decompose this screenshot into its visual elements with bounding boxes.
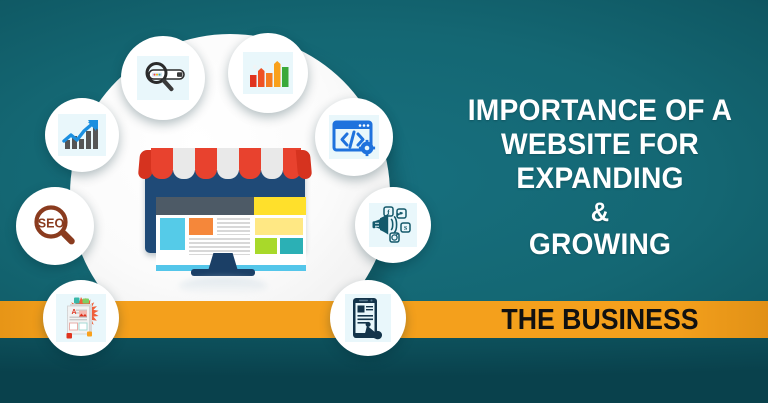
screen-yellow-block xyxy=(254,197,306,215)
bar-chart-icon[interactable] xyxy=(228,33,308,113)
headline-block: IMPORTANCE OF A WEBSITE FOR EXPANDING & … xyxy=(432,94,768,262)
screen-header-block xyxy=(156,197,254,215)
mobile-tap-icon-glyph xyxy=(346,295,390,341)
screen-green-block xyxy=(255,238,277,254)
awning-stripe xyxy=(239,148,261,179)
content-icon-glyph: A xyxy=(57,295,105,341)
screen-light-yellow-block xyxy=(255,218,303,235)
screen-cyan-block xyxy=(160,218,185,250)
growth-chart-icon-tile xyxy=(58,114,106,156)
screen-teal-block xyxy=(280,238,303,254)
headline-ampersand: & xyxy=(442,196,758,228)
content-icon[interactable]: A xyxy=(43,280,119,356)
mobile-tap-icon-tile xyxy=(345,294,391,342)
banner-image: SEO f s xyxy=(0,0,768,403)
screen-orange-block xyxy=(189,218,213,235)
screen-text-lines-2 xyxy=(189,238,250,255)
search-icon-tile xyxy=(137,56,189,100)
social-media-icon-glyph: f s xyxy=(370,204,416,246)
bar-chart-icon-glyph xyxy=(244,53,292,93)
headline-line-5: GROWING xyxy=(442,228,758,262)
growth-chart-icon[interactable] xyxy=(45,98,119,172)
awning-stripe xyxy=(195,148,217,179)
seo-icon[interactable]: SEO xyxy=(16,187,94,265)
headline-line-3: EXPANDING xyxy=(442,162,758,196)
awning-stripe xyxy=(261,148,283,179)
headline-line-1: IMPORTANCE OF A xyxy=(442,94,758,128)
monitor-reflection xyxy=(179,277,267,295)
growth-chart-icon-glyph xyxy=(59,115,105,155)
online-store-monitor xyxy=(139,148,311,278)
mobile-tap-icon[interactable] xyxy=(330,280,406,356)
bar-chart-icon-tile xyxy=(243,52,293,94)
social-media-icon[interactable]: f s xyxy=(355,187,431,263)
headline-line-2: WEBSITE FOR xyxy=(442,128,758,162)
headline-line-6: THE BUSINESS xyxy=(445,302,754,338)
seo-icon-glyph: SEO xyxy=(30,203,80,249)
monitor-frame xyxy=(145,170,305,253)
seo-icon-text: SEO xyxy=(38,217,65,231)
code-window-icon[interactable] xyxy=(315,98,393,176)
search-icon-glyph xyxy=(138,57,188,99)
monitor-stand-base xyxy=(191,269,255,276)
awning-stripe xyxy=(151,148,173,179)
search-icon[interactable] xyxy=(121,36,205,120)
awning-stripe xyxy=(173,148,195,179)
awning-right-edge xyxy=(296,150,313,179)
code-window-icon-tile xyxy=(329,115,379,159)
svg-text:s: s xyxy=(404,223,407,232)
shop-awning xyxy=(139,148,311,180)
svg-text:A: A xyxy=(72,309,77,316)
screen-text-lines-1 xyxy=(217,218,250,235)
social-media-icon-tile: f s xyxy=(369,203,417,247)
content-icon-tile: A xyxy=(56,294,106,342)
awning-stripe xyxy=(217,148,239,179)
seo-icon-tile: SEO xyxy=(29,202,81,250)
code-window-icon-glyph xyxy=(330,116,378,158)
